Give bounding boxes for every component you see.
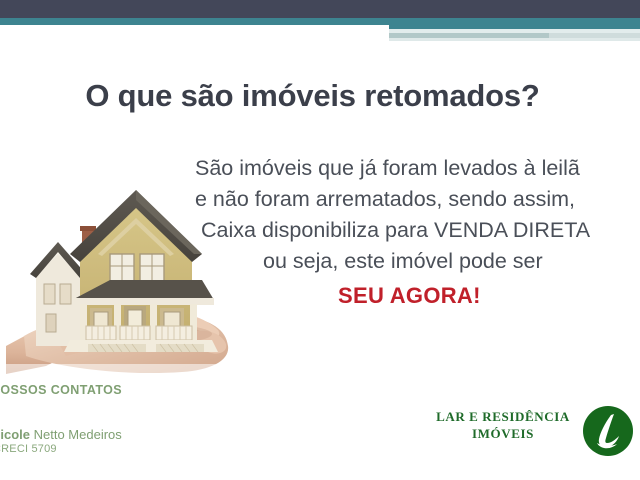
agent-creci: CRECI 5709 — [0, 443, 57, 455]
header-accent-bar-4 — [389, 38, 640, 41]
header-navy-bar — [0, 0, 640, 18]
brand-name: LAR E RESIDÊNCIA IMÓVEIS — [430, 408, 576, 442]
body-line-1: São imóveis que já foram levados à leilã — [195, 153, 640, 184]
agent-name: Nicole Netto Medeiros — [0, 427, 122, 442]
agent-last-name: Netto Medeiros — [30, 427, 122, 442]
body-line-2: e não foram arrematados, sendo assim, — [195, 184, 640, 215]
lar-e-residencia-logo-icon — [581, 404, 635, 458]
highlight-text: SEU AGORA! — [338, 280, 640, 311]
header-teal-bar-left — [0, 18, 389, 25]
slide-canvas: O que são imóveis retomados? — [0, 0, 640, 480]
contacts-heading: NOSSOS CONTATOS — [0, 383, 122, 397]
body-text: São imóveis que já foram levados à leilã… — [195, 153, 640, 311]
page-title: O que são imóveis retomados? — [0, 78, 625, 114]
agent-first-name: Nicole — [0, 427, 30, 442]
body-line-4: ou seja, este imóvel pode ser — [263, 246, 640, 277]
body-line-3: Caixa disponibiliza para VENDA DIRETA — [201, 215, 640, 246]
header-teal-bar-right — [389, 18, 640, 29]
brand-line-1: LAR E RESIDÊNCIA — [430, 408, 576, 425]
brand-line-2: IMÓVEIS — [430, 425, 576, 442]
